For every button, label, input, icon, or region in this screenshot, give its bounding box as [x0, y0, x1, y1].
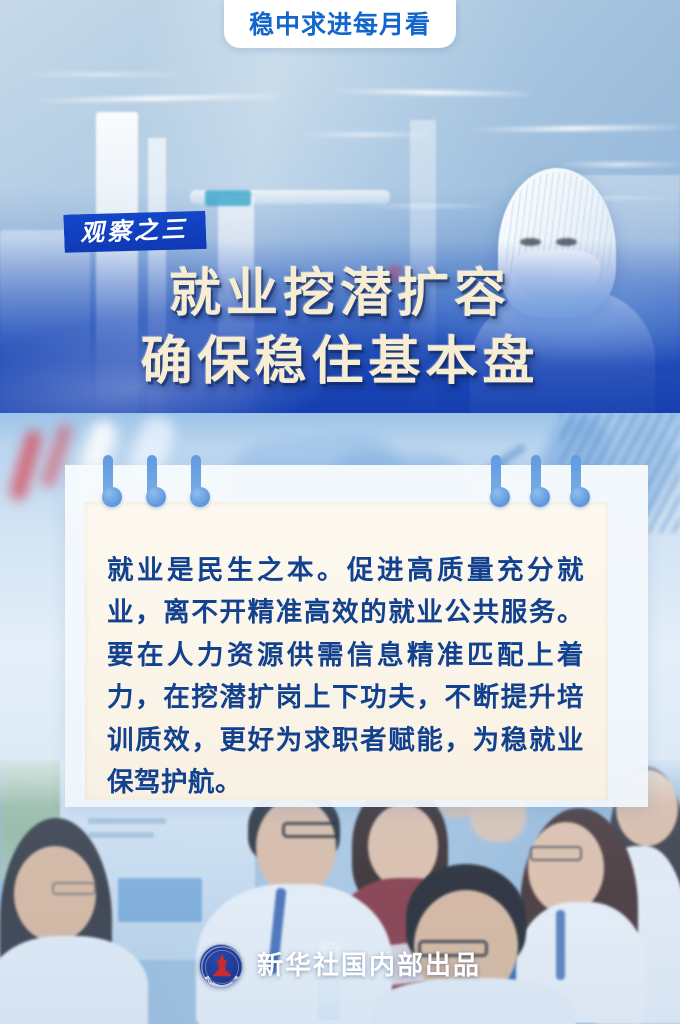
ceiling-light: [470, 125, 680, 133]
factory-equipment: [205, 190, 251, 206]
ceiling-light: [30, 93, 280, 103]
xinhua-logo-icon: XINHUA NEWS: [199, 944, 243, 988]
poster-root: 就业是民生之本。促进高质量充分就业，离不开精准高效的就业公共服务。要在人力资源供…: [0, 0, 680, 1024]
top-banner-label: 稳中求进每月看: [249, 12, 431, 37]
credit-label: 新华社国内部出品: [257, 953, 481, 979]
note-card-inner: 就业是民生之本。促进高质量充分就业，离不开精准高效的就业公共服务。要在人力资源供…: [85, 502, 608, 800]
section-tag-plate: 观察之三: [63, 209, 206, 254]
section-tag: 观察之三: [63, 209, 206, 254]
ceiling-light: [20, 72, 180, 77]
svg-text:XINHUA NEWS: XINHUA NEWS: [206, 979, 238, 984]
credit-row: XINHUA NEWS 新华社国内部出品: [0, 944, 680, 988]
quote-text: 就业是民生之本。促进高质量充分就业，离不开精准高效的就业公共服务。要在人力资源供…: [107, 550, 584, 804]
ceiling-light: [555, 162, 680, 167]
page-title: 就业挖潜扩容 确保稳住基本盘: [0, 260, 680, 395]
section-tag-label: 观察之三: [79, 215, 188, 247]
top-banner: 稳中求进每月看: [224, 0, 456, 48]
ceiling-light: [330, 88, 530, 96]
blur-streak-red: [8, 428, 43, 502]
title-line-1: 就业挖潜扩容: [0, 260, 680, 328]
title-line-2: 确保稳住基本盘: [0, 328, 680, 396]
